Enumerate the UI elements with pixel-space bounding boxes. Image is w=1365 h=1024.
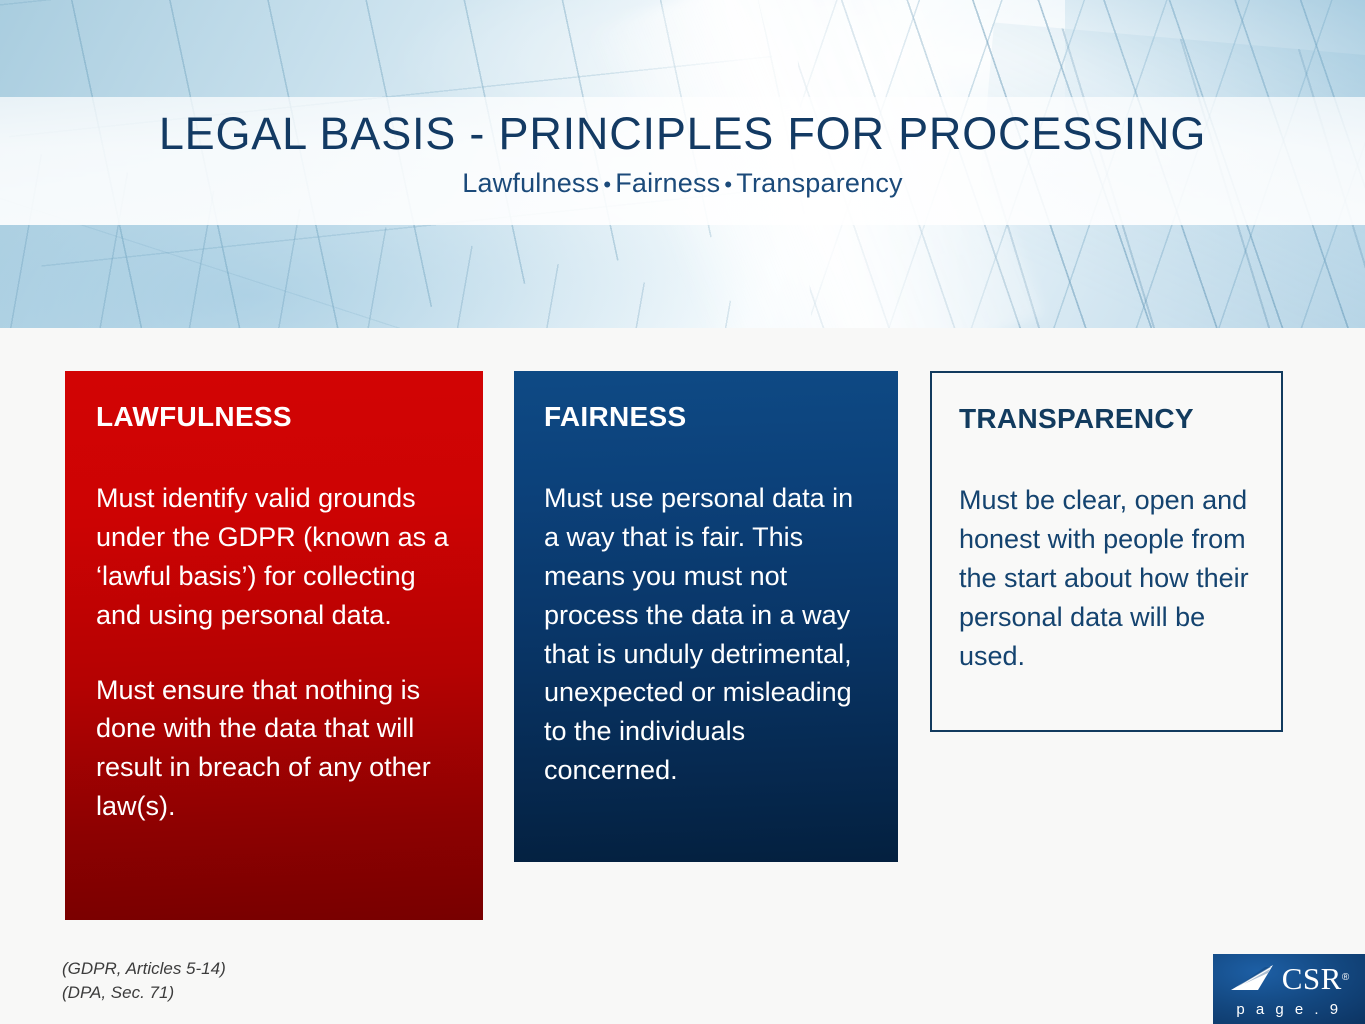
subtitle-separator-icon: • — [720, 172, 736, 198]
page-title: LEGAL BASIS - PRINCIPLES FOR PROCESSING — [0, 97, 1365, 159]
csr-logo-row: CSR® — [1213, 959, 1365, 997]
card-lawfulness-heading: LAWFULNESS — [96, 401, 457, 433]
card-fairness: FAIRNESS Must use personal data in a way… — [514, 371, 898, 862]
subtitle-part-lawfulness: Lawfulness — [462, 168, 599, 198]
slide-header-banner: LEGAL BASIS - PRINCIPLES FOR PROCESSING … — [0, 0, 1365, 328]
card-transparency-paragraph: Must be clear, open and honest with peop… — [959, 481, 1261, 675]
card-lawfulness-paragraph: Must ensure that nothing is done with th… — [96, 671, 457, 827]
card-fairness-paragraph: Must use personal data in a way that is … — [544, 479, 874, 790]
subtitle-part-fairness: Fairness — [615, 168, 720, 198]
registered-trademark-icon: ® — [1342, 973, 1349, 983]
card-transparency: TRANSPARENCY Must be clear, open and hon… — [930, 371, 1283, 732]
csr-logo-block: CSR® p a g e . 9 — [1213, 954, 1365, 1024]
slide: LEGAL BASIS - PRINCIPLES FOR PROCESSING … — [0, 0, 1365, 1024]
subtitle-separator-icon: • — [599, 172, 615, 198]
page-number-label: p a g e . 9 — [1213, 1001, 1365, 1018]
card-transparency-heading: TRANSPARENCY — [959, 403, 1261, 435]
header-text-block: LEGAL BASIS - PRINCIPLES FOR PROCESSING … — [0, 97, 1365, 225]
source-footnote: (GDPR, Articles 5-14) (DPA, Sec. 71) — [62, 957, 226, 1005]
csr-swoosh-icon — [1229, 963, 1277, 993]
csr-wordmark: CSR — [1282, 963, 1342, 994]
card-fairness-heading: FAIRNESS — [544, 401, 874, 433]
page-subtitle: Lawfulness•Fairness•Transparency — [0, 159, 1365, 199]
card-lawfulness-paragraph: Must identify valid grounds under the GD… — [96, 479, 457, 635]
card-lawfulness: LAWFULNESS Must identify valid grounds u… — [65, 371, 483, 920]
subtitle-part-transparency: Transparency — [736, 168, 902, 198]
